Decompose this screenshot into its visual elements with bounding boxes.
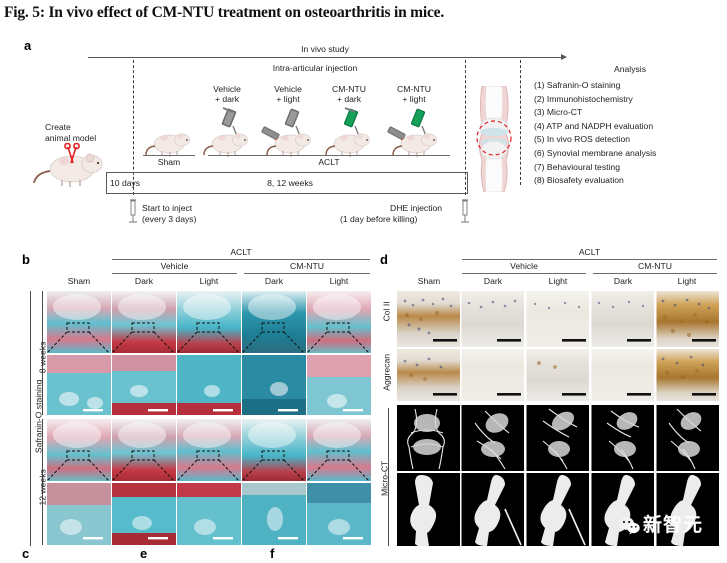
panel-b-col-4: Dark <box>243 276 305 287</box>
panel-d-aclt-label: ACLT <box>462 247 717 258</box>
panel-letter-d: d <box>380 252 388 267</box>
panel-d-vehicle-label: Vehicle <box>462 261 586 272</box>
mouse-vehicle-light-icon <box>260 106 318 161</box>
intra-articular-injection-label: Intra-articular injection <box>215 63 415 74</box>
analysis-list: (1) Safranin-O staining (2) Immunohistoc… <box>534 79 724 188</box>
panel-b-axis-bar <box>30 291 31 546</box>
panel-d-row-label-microct: Micro-CT <box>380 446 391 510</box>
mouse-with-scissors-icon <box>28 143 106 188</box>
create-animal-model-line1: Create <box>45 122 71 133</box>
note-start-inject-line2: (every 3 days) <box>142 214 196 225</box>
panel-d-row-label-aggrecan: Aggrecan <box>382 340 393 404</box>
panel-b-vehicle-rule <box>112 273 237 274</box>
group-label-3-line2: + dark <box>321 94 377 105</box>
panel-d-col-1: Sham <box>398 276 460 287</box>
panel-d-cmntu-rule <box>593 273 717 274</box>
microct-row-1 <box>397 405 719 471</box>
panel-d-row-label-col2: Col II <box>382 282 393 340</box>
note-start-inject-line1: Start to inject <box>142 203 192 214</box>
panel-d-aclt-rule <box>462 259 717 260</box>
analysis-item-5: (5) In vivo ROS detection <box>534 133 724 147</box>
duration-right-label: 8, 12 weeks <box>200 178 380 189</box>
panel-b-col-3: Light <box>178 276 240 287</box>
mouse-vehicle-dark-icon <box>203 106 255 161</box>
mouse-cmntu-dark-icon <box>325 106 377 161</box>
panel-b-image-grid <box>47 291 372 545</box>
timeline-marker-analysis <box>520 60 521 185</box>
panel-b-vehicle-label: Vehicle <box>112 261 237 272</box>
analysis-item-6: (6) Synovial membrane analysis <box>534 147 724 161</box>
note-dhe-line1: DHE injection <box>390 203 442 214</box>
panel-b-aclt-label: ACLT <box>112 247 370 258</box>
analysis-item-8: (8) Biosafety evaluation <box>534 174 724 188</box>
panel-d-cmntu-label: CM-NTU <box>593 261 717 272</box>
panel-letter-c: c <box>22 546 29 561</box>
bracket-sham-rule <box>143 155 195 156</box>
panel-b-col-5: Light <box>308 276 370 287</box>
analysis-title: Analysis <box>560 64 700 75</box>
analysis-item-7: (7) Behavioural testing <box>534 161 724 175</box>
bracket-aclt-rule <box>208 155 450 156</box>
timeline-arrowhead <box>561 54 567 60</box>
group-label-4-line2: + light <box>386 94 442 105</box>
panel-d-col-2: Dark <box>462 276 524 287</box>
figure-title: Fig. 5: In vivo effect of CM-NTU treatme… <box>4 4 714 22</box>
analysis-item-4: (4) ATP and NADPH evaluation <box>534 120 724 134</box>
panel-b-aclt-rule <box>112 259 370 260</box>
panel-b-cmntu-rule <box>244 273 370 274</box>
panel-d-col-3: Light <box>527 276 589 287</box>
panel-d-col-5: Light <box>656 276 718 287</box>
panel-d-col-4: Dark <box>592 276 654 287</box>
panel-letter-a: a <box>24 38 31 53</box>
watermark-text: 新智元 <box>643 516 703 535</box>
group-label-2-line2: + light <box>262 94 314 105</box>
duration-left-label: 10 days <box>110 178 140 189</box>
analysis-item-3: (3) Micro-CT <box>534 106 724 120</box>
bracket-aclt-label: ACLT <box>208 157 450 168</box>
knee-joint-illustration <box>472 86 516 192</box>
panel-letter-e: e <box>140 546 147 561</box>
panel-letter-f: f <box>270 546 274 561</box>
syringe-start-icon <box>127 199 139 225</box>
note-dhe-line2: (1 day before killing) <box>340 214 417 225</box>
panel-d-vehicle-rule <box>462 273 586 274</box>
panel-d-image-grid <box>397 291 719 546</box>
panel-b-cmntu-label: CM-NTU <box>244 261 370 272</box>
watermark: 新智元 <box>618 516 703 535</box>
panel-letter-b: b <box>22 252 30 267</box>
panel-b-col-2: Dark <box>113 276 175 287</box>
group-label-1-line2: + dark <box>201 94 253 105</box>
panel-b-col-1: Sham <box>48 276 110 287</box>
timeline-axis <box>88 57 562 58</box>
in-vivo-study-label: In vivo study <box>245 44 405 55</box>
bracket-sham-label: Sham <box>141 157 197 168</box>
mouse-cmntu-light-icon <box>386 106 444 161</box>
wechat-icon <box>618 516 640 535</box>
syringe-dhe-icon <box>459 199 471 225</box>
analysis-item-2: (2) Immunohistochemistry <box>534 93 724 107</box>
analysis-item-1: (1) Safranin-O staining <box>534 79 724 93</box>
